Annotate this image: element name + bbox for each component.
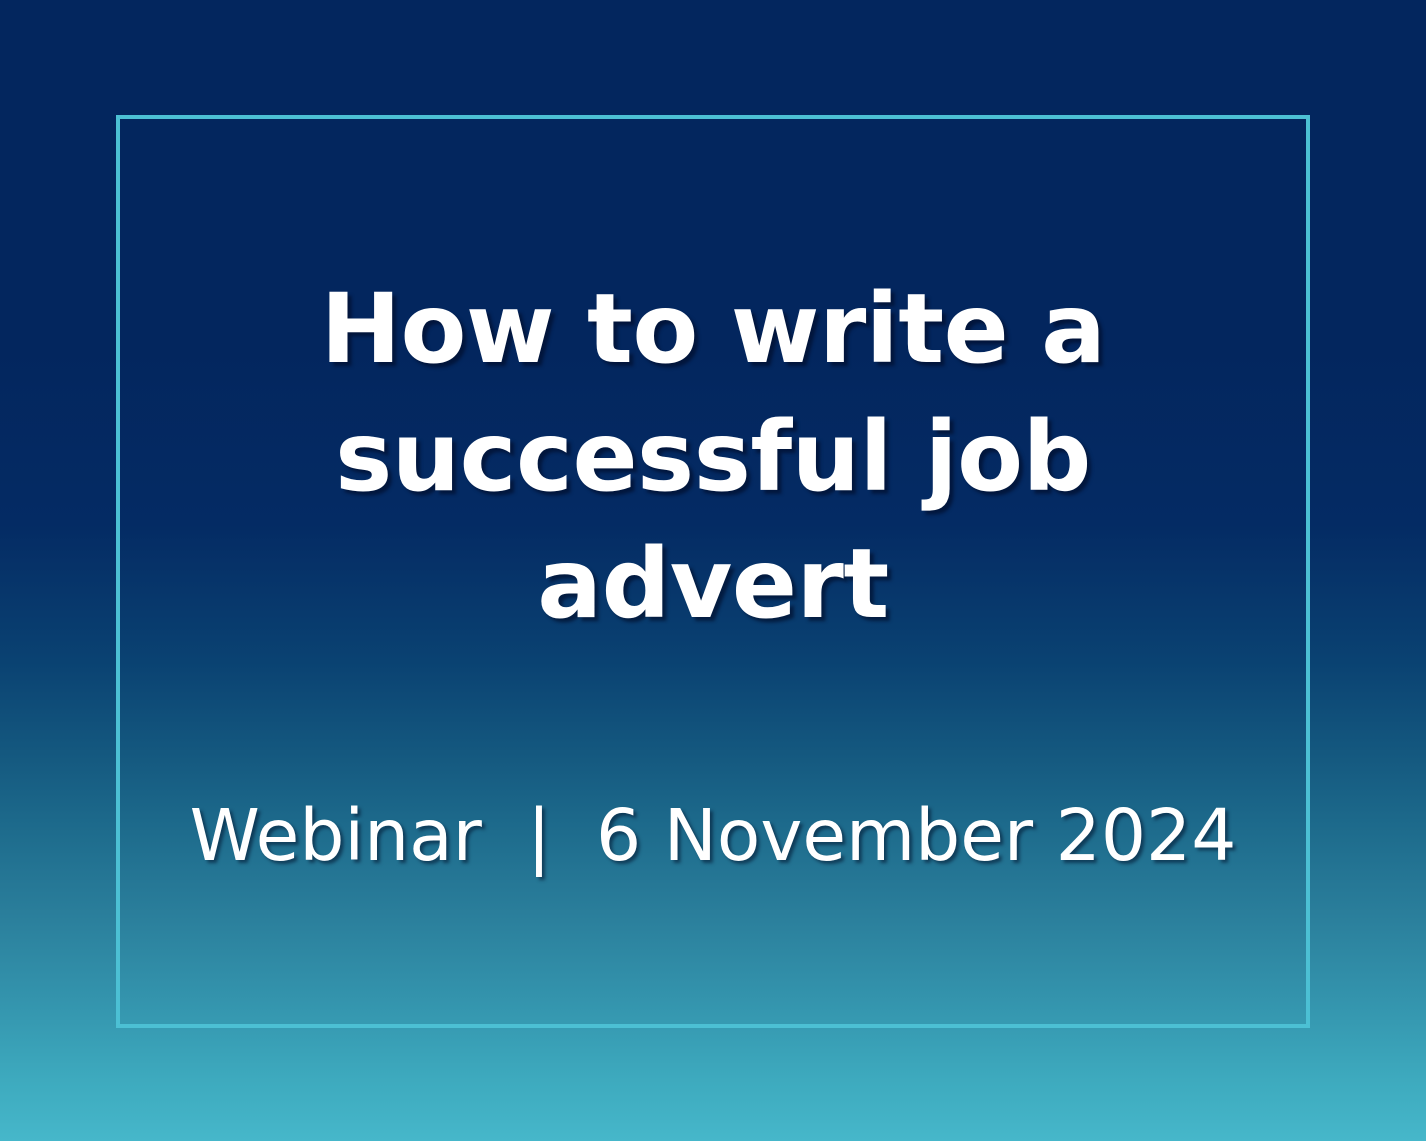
slide-subtitle: Webinar | 6 November 2024 [163,649,1263,875]
title-slide: How to write a successful job advert Web… [0,0,1426,1141]
slide-title: How to write a successful job advert [163,266,1263,649]
slide-content: How to write a successful job advert Web… [0,0,1426,1141]
